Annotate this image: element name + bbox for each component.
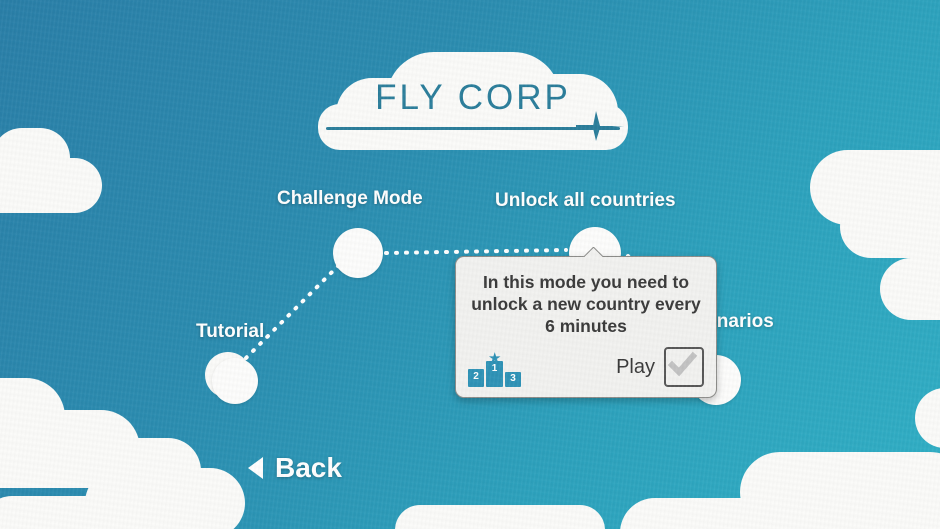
game-main-menu-screen: FLY CORP Tutorial Challenge Mode Unlock …: [0, 0, 940, 529]
node-label-challenge-mode[interactable]: Challenge Mode: [277, 188, 423, 210]
checkmark-icon: [666, 349, 698, 381]
tooltip-footer-row: ★ 2 1 3 Play: [468, 347, 704, 387]
podium-rank-2: 2: [468, 369, 484, 387]
play-control[interactable]: Play: [616, 347, 704, 387]
tooltip-pointer-arrow: [583, 247, 603, 257]
tooltip-description: In this mode you need to unlock a new co…: [468, 271, 704, 337]
node-label-tutorial[interactable]: Tutorial: [196, 321, 264, 343]
triangle-left-icon: [248, 457, 263, 479]
menu-node-challenge-mode[interactable]: [333, 228, 383, 278]
play-checkbox-button[interactable]: [664, 347, 704, 387]
back-button-label: Back: [275, 452, 342, 484]
podium-rank-3: 3: [505, 372, 521, 387]
menu-node-tutorial[interactable]: [212, 358, 258, 404]
back-button[interactable]: Back: [248, 452, 342, 484]
podium-rank-1: 1: [486, 361, 503, 387]
play-label: Play: [616, 356, 655, 379]
podium-icon: ★ 2 1 3: [468, 351, 522, 387]
mode-info-tooltip: In this mode you need to unlock a new co…: [455, 256, 717, 398]
node-label-unlock-all-countries[interactable]: Unlock all countries: [495, 190, 676, 212]
